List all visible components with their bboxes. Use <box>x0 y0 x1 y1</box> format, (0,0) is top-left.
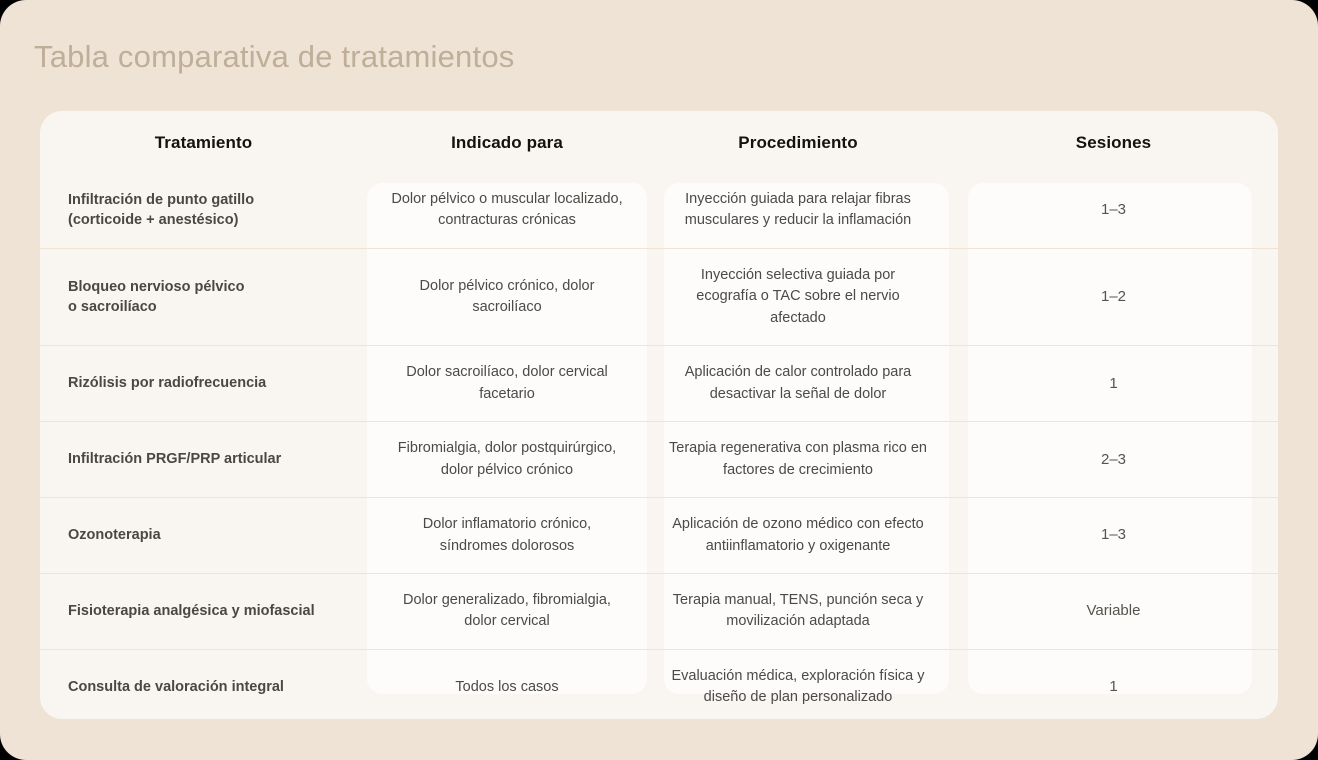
column-header-tratamiento: Tratamiento <box>40 111 367 173</box>
treatment-line-2: o sacroilíaco <box>68 297 351 318</box>
page-title: Tabla comparativa de tratamientos <box>34 39 514 75</box>
cell-sesiones: 1–3 <box>949 173 1278 248</box>
cell-indicado: Todos los casos <box>367 649 647 719</box>
cell-sesiones: 1–3 <box>949 498 1278 574</box>
table-body: Infiltración de punto gatillo(corticoide… <box>40 173 1278 719</box>
cell-tratamiento: Bloqueo nervioso pélvicoo sacroilíaco <box>40 248 367 345</box>
cell-sesiones: 1 <box>949 346 1278 422</box>
treatment-line-1: Infiltración de punto gatillo <box>68 190 351 211</box>
cell-sesiones: 1–2 <box>949 248 1278 345</box>
table-row: Rizólisis por radiofrecuencia Dolor sacr… <box>40 346 1278 422</box>
column-header-indicado: Indicado para <box>367 111 647 173</box>
cell-tratamiento: Fisioterapia analgésica y miofascial <box>40 573 367 649</box>
cell-tratamiento: Rizólisis por radiofrecuencia <box>40 346 367 422</box>
comparison-table-page: Tabla comparativa de tratamientos Tratam… <box>0 0 1318 760</box>
table-row: Ozonoterapia Dolor inflamatorio crónico,… <box>40 498 1278 574</box>
cell-sesiones: 1 <box>949 649 1278 719</box>
treatments-table: Tratamiento Indicado para Procedimiento … <box>40 111 1278 719</box>
table-header-row: Tratamiento Indicado para Procedimiento … <box>40 111 1278 173</box>
cell-indicado: Dolor inflamatorio crónico, síndromes do… <box>367 498 647 574</box>
cell-procedimiento: Aplicación de calor controlado para desa… <box>647 346 949 422</box>
cell-procedimiento: Terapia regenerativa con plasma rico en … <box>647 422 949 498</box>
cell-indicado: Dolor pélvico crónico, dolor sacroilíaco <box>367 248 647 345</box>
cell-procedimiento: Evaluación médica, exploración física y … <box>647 649 949 719</box>
cell-procedimiento: Inyección selectiva guiada por ecografía… <box>647 248 949 345</box>
cell-indicado: Fibromialgia, dolor postquirúrgico, dolo… <box>367 422 647 498</box>
column-header-sesiones: Sesiones <box>949 111 1278 173</box>
table-row: Fisioterapia analgésica y miofascial Dol… <box>40 573 1278 649</box>
cell-procedimiento: Inyección guiada para relajar fibras mus… <box>647 173 949 248</box>
cell-procedimiento: Terapia manual, TENS, punción seca y mov… <box>647 573 949 649</box>
cell-indicado: Dolor generalizado, fibromialgia, dolor … <box>367 573 647 649</box>
treatment-line-2: (corticoide + anestésico) <box>68 210 351 231</box>
treatment-line-1: Bloqueo nervioso pélvico <box>68 277 351 298</box>
table-row: Bloqueo nervioso pélvicoo sacroilíaco Do… <box>40 248 1278 345</box>
table-row: Infiltración de punto gatillo(corticoide… <box>40 173 1278 248</box>
column-header-procedimiento: Procedimiento <box>647 111 949 173</box>
cell-procedimiento: Aplicación de ozono médico con efecto an… <box>647 498 949 574</box>
treatments-table-card: Tratamiento Indicado para Procedimiento … <box>40 111 1278 719</box>
cell-sesiones: 2–3 <box>949 422 1278 498</box>
cell-indicado: Dolor sacroilíaco, dolor cervical faceta… <box>367 346 647 422</box>
cell-tratamiento: Ozonoterapia <box>40 498 367 574</box>
cell-sesiones: Variable <box>949 573 1278 649</box>
cell-tratamiento: Consulta de valoración integral <box>40 649 367 719</box>
cell-indicado: Dolor pélvico o muscular localizado, con… <box>367 173 647 248</box>
cell-tratamiento: Infiltración de punto gatillo(corticoide… <box>40 173 367 248</box>
cell-tratamiento: Infiltración PRGF/PRP articular <box>40 422 367 498</box>
table-row: Infiltración PRGF/PRP articular Fibromia… <box>40 422 1278 498</box>
table-row: Consulta de valoración integral Todos lo… <box>40 649 1278 719</box>
table-header: Tratamiento Indicado para Procedimiento … <box>40 111 1278 173</box>
